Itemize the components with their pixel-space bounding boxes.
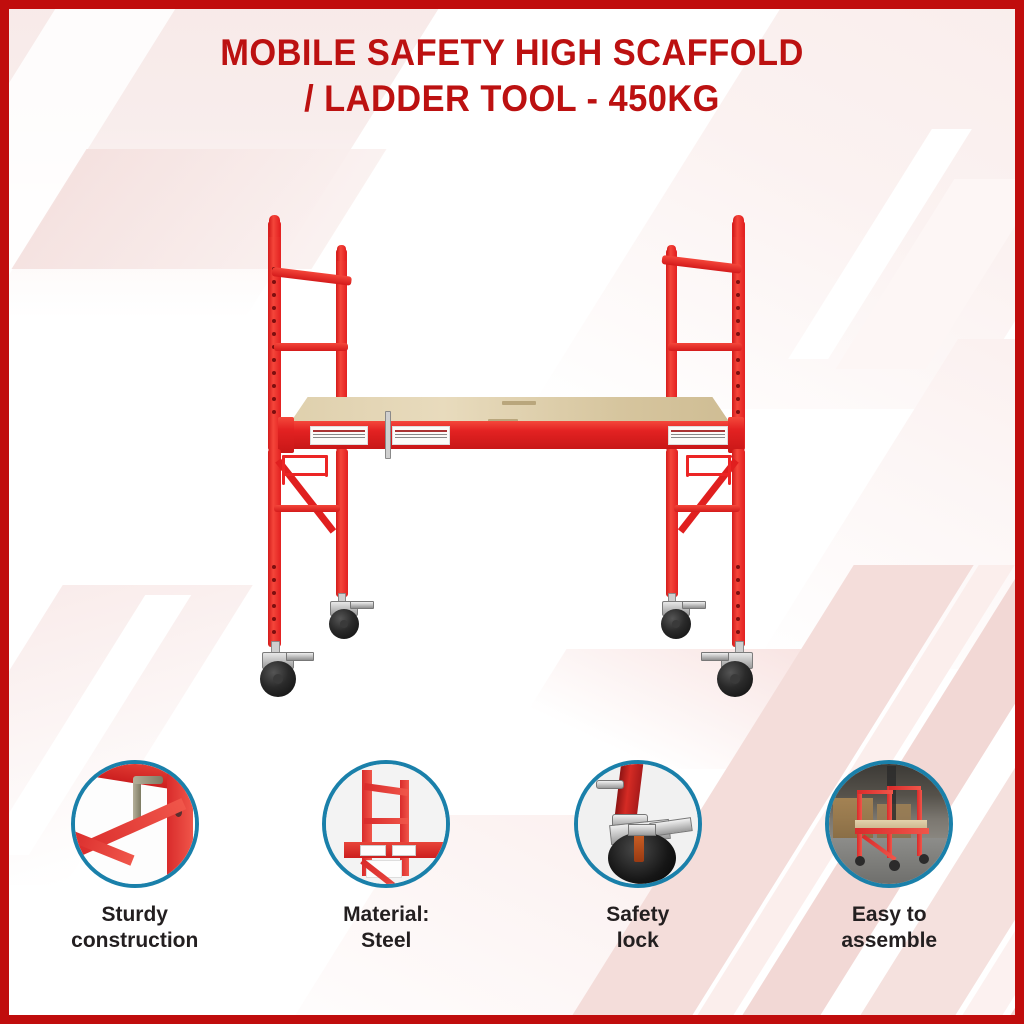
feature-label-material-steel: Material: Steel bbox=[343, 902, 429, 954]
right-outrigger-shelf bbox=[686, 473, 730, 476]
feature-label-line-2: lock bbox=[606, 928, 669, 954]
steel-frame-photo-icon bbox=[322, 760, 450, 888]
scaffold-joint-photo-icon bbox=[71, 760, 199, 888]
right-outrigger-bracket bbox=[728, 455, 731, 485]
caster-rear-left-hub bbox=[340, 620, 348, 628]
right-outrigger-arm bbox=[686, 455, 732, 458]
caster-rear-left-brake bbox=[350, 601, 374, 609]
left-lower-rail bbox=[274, 505, 340, 512]
caster-rear-right-brake bbox=[682, 601, 706, 609]
right-outer-post-cap bbox=[733, 215, 744, 237]
feature-label-sturdy-construction: Sturdy construction bbox=[71, 902, 198, 954]
platform-hatch-1 bbox=[502, 401, 536, 405]
feature-label-easy-to-assemble: Easy to assemble bbox=[841, 902, 937, 954]
title-line-1: MOBILE SAFETY HIGH SCAFFOLD bbox=[36, 30, 988, 76]
caster-front-left-hub bbox=[273, 674, 283, 684]
caster-front-left-brake bbox=[286, 652, 314, 661]
right-lower-rail bbox=[674, 505, 740, 512]
product-image bbox=[250, 205, 780, 735]
left-outrigger-arm bbox=[282, 455, 328, 458]
caster-front-right-brake bbox=[701, 652, 729, 661]
caster-brake-photo-icon bbox=[574, 760, 702, 888]
left-mid-rail bbox=[274, 343, 348, 351]
platform-beam-left-cap bbox=[278, 417, 294, 453]
right-mid-rail bbox=[668, 343, 742, 351]
caster-rear-right-hub bbox=[672, 620, 680, 628]
right-inner-leg bbox=[666, 449, 678, 597]
left-outrigger-shelf bbox=[284, 473, 328, 476]
center-coupling-pin bbox=[385, 411, 391, 459]
left-inner-post-cap bbox=[337, 245, 346, 261]
feature-safety-lock: Safety lock bbox=[512, 760, 764, 1010]
platform-beam-right-cap bbox=[728, 417, 744, 453]
feature-list: Sturdy construction Material: Steel bbox=[9, 760, 1015, 1010]
feature-label-line-1: Easy to bbox=[841, 902, 937, 928]
left-outrigger-bracket bbox=[282, 455, 285, 485]
feature-label-line-2: Steel bbox=[343, 928, 429, 954]
left-inner-leg bbox=[336, 449, 348, 597]
left-outer-post-cap bbox=[269, 215, 280, 237]
feature-label-line-1: Material: bbox=[343, 902, 429, 928]
feature-label-safety-lock: Safety lock bbox=[606, 902, 669, 954]
page-title: MOBILE SAFETY HIGH SCAFFOLD / LADDER TOO… bbox=[0, 30, 1024, 122]
feature-label-line-2: construction bbox=[71, 928, 198, 954]
feature-easy-to-assemble: Easy to assemble bbox=[764, 760, 1016, 1010]
title-line-2: / LADDER TOOL - 450KG bbox=[36, 76, 988, 122]
feature-label-line-1: Sturdy bbox=[71, 902, 198, 928]
assembled-scaffold-photo-icon bbox=[825, 760, 953, 888]
warning-label-left bbox=[310, 426, 368, 445]
feature-label-line-1: Safety bbox=[606, 902, 669, 928]
product-listing-page: MOBILE SAFETY HIGH SCAFFOLD / LADDER TOO… bbox=[0, 0, 1024, 1024]
feature-sturdy-construction: Sturdy construction bbox=[9, 760, 261, 1010]
warning-label-center bbox=[392, 426, 450, 445]
warning-label-right bbox=[668, 426, 728, 445]
feature-material-steel: Material: Steel bbox=[261, 760, 513, 1010]
caster-front-right-hub bbox=[730, 674, 740, 684]
feature-label-line-2: assemble bbox=[841, 928, 937, 954]
